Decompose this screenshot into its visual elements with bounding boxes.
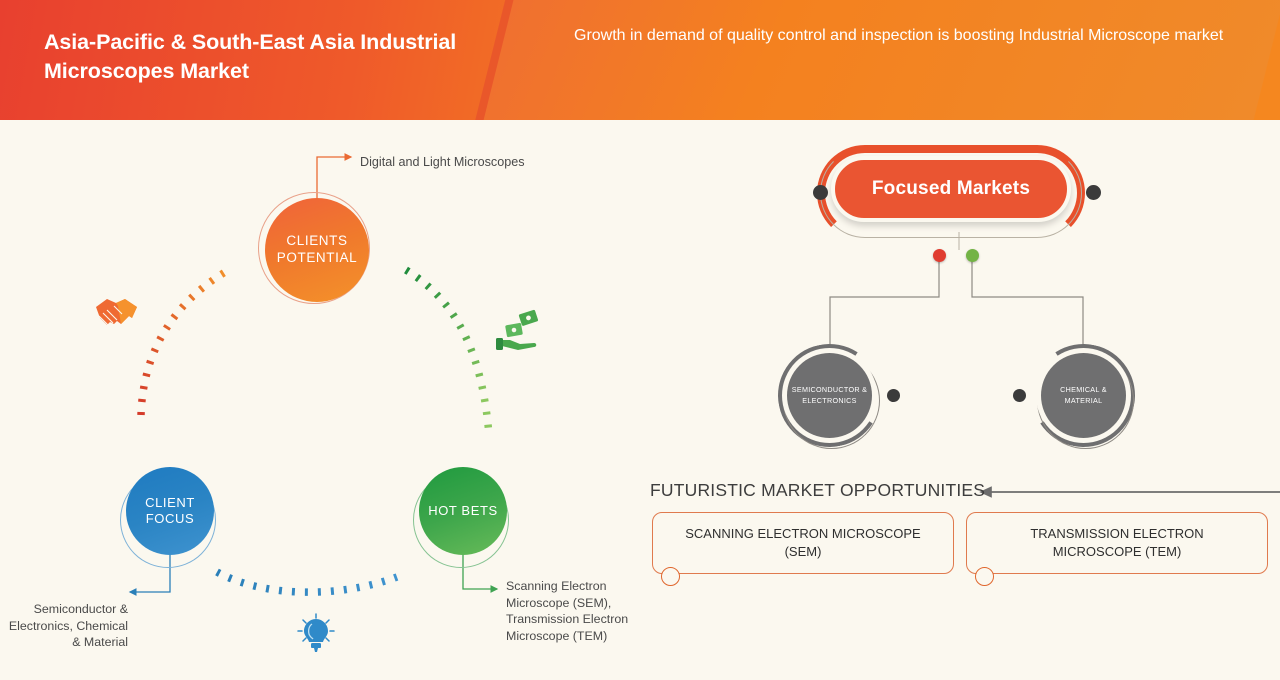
handshake-icon — [96, 299, 137, 326]
red-dot — [933, 249, 946, 262]
futuristic-opportunities-title: FUTURISTIC MARKET OPPORTUNITIES — [650, 480, 985, 501]
leader-line-hot-bets — [463, 555, 497, 589]
node-clients-potential[interactable]: CLIENTS POTENTIAL — [265, 198, 369, 302]
dotted-arc-red — [141, 268, 232, 415]
focused-markets-banner[interactable]: Focused Markets — [805, 145, 1105, 255]
semiconductor-side-dot — [887, 389, 900, 402]
opportunity-box-sem[interactable]: SCANNING ELECTRON MICROSCOPE (SEM) — [652, 512, 954, 574]
focused-markets-label[interactable]: Focused Markets — [831, 156, 1071, 222]
money-in-hand-icon — [496, 310, 538, 350]
opportunity-marker-sem — [661, 567, 680, 586]
connector-chemical — [972, 256, 1083, 352]
chemical-side-dot — [1013, 389, 1026, 402]
label-semiconductor-chemical: Semiconductor & Electronics, Chemical & … — [0, 601, 128, 651]
connector-semiconductor — [830, 256, 939, 352]
opportunity-marker-tem — [975, 567, 994, 586]
infographic-root: Asia-Pacific & South-East Asia Industria… — [0, 0, 1280, 680]
green-dot — [966, 249, 979, 262]
banner-dot-right — [1086, 185, 1101, 200]
label-sem-tem: Scanning Electron Microscope (SEM), Tran… — [506, 578, 656, 644]
node-hot-bets[interactable]: HOT BETS — [419, 467, 507, 555]
banner-dot-left — [813, 185, 828, 200]
node-client-focus[interactable]: CLIENT FOCUS — [126, 467, 214, 555]
dotted-arc-green — [406, 270, 489, 435]
dotted-arc-blue — [217, 572, 397, 592]
leader-line-client-focus — [130, 555, 170, 592]
opportunity-box-tem[interactable]: TRANSMISSION ELECTRON MICROSCOPE (TEM) — [966, 512, 1268, 574]
market-chemical-material[interactable]: CHEMICAL & MATERIAL — [1041, 353, 1126, 438]
market-semiconductor-electronics[interactable]: SEMICONDUCTOR & ELECTRONICS — [787, 353, 872, 438]
leader-line-clients-potential — [317, 157, 351, 198]
label-digital-light-microscopes: Digital and Light Microscopes — [360, 154, 590, 171]
lightbulb-icon — [298, 614, 334, 652]
